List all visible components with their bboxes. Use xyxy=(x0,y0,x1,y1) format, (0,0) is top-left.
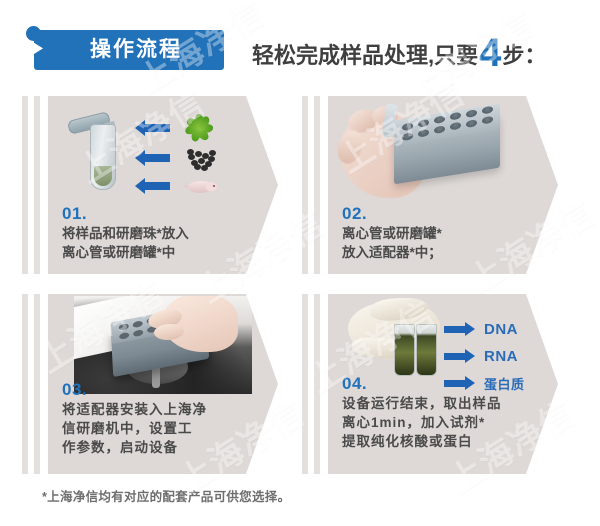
headline-suffix: 步： xyxy=(502,38,546,70)
step-3-text: 将适配器安装入上海净 信研磨机中，设置工 作参数，启动设备 xyxy=(62,400,207,457)
ribbon-label: 操作流程 xyxy=(34,30,224,70)
left-arrow-icon xyxy=(144,124,170,132)
left-arrow-icon xyxy=(144,182,170,190)
footnote: *上海净信均有对应的配套产品可供您选择。 xyxy=(42,486,290,505)
sample-vial-icon xyxy=(394,324,415,376)
step-1-text: 将样品和研磨珠*放入 离心管或研磨罐*中 xyxy=(62,224,189,262)
step-bars-2 xyxy=(302,96,324,274)
output-row-rna: RNA xyxy=(444,345,552,367)
sample-row-plant xyxy=(144,118,262,138)
step-4-outputs: DNA RNA 蛋白质 xyxy=(444,318,552,399)
right-arrow-icon xyxy=(444,353,466,360)
mouse-icon xyxy=(184,173,218,199)
headline: 轻松完成样品处理,只要 4 步： xyxy=(252,30,546,72)
step-card-4: DNA RNA 蛋白质 04. 设备运行结束，取出样品 离心1min，加入试剂*… xyxy=(328,294,558,474)
output-label-dna: DNA xyxy=(484,321,518,338)
step-2-text: 离心管或研磨罐* 放入适配器*中； xyxy=(342,224,442,262)
step-3-photo xyxy=(74,296,252,394)
output-label-protein: 蛋白质 xyxy=(484,374,525,393)
step-card-1: 01. 将样品和研磨珠*放入 离心管或研磨罐*中 xyxy=(48,96,278,274)
step-1-artwork xyxy=(48,96,278,206)
sample-row-beads xyxy=(144,148,262,168)
step-bars-3 xyxy=(22,294,44,474)
ribbon-banner: 操作流程 xyxy=(34,30,224,70)
step-card-3: 03. 将适配器安装入上海净 信研磨机中，设置工 作参数，启动设备 xyxy=(48,294,278,474)
step-2-number: 02. xyxy=(342,204,367,224)
step-4-text: 设备运行结束，取出样品 离心1min，加入试剂* 提取纯化核酸或蛋白 xyxy=(342,394,502,451)
right-arrow-icon xyxy=(444,326,466,333)
sample-vial-icon xyxy=(416,324,437,376)
output-row-protein: 蛋白质 xyxy=(444,372,552,394)
header: 操作流程 轻松完成样品处理,只要 4 步： xyxy=(0,0,600,88)
step-3-number: 03. xyxy=(62,380,87,400)
leaf-icon xyxy=(184,115,218,141)
right-arrow-icon xyxy=(444,380,466,387)
step-bars-4 xyxy=(302,294,324,474)
sample-row-mouse xyxy=(144,176,262,196)
left-arrow-icon xyxy=(144,154,170,162)
step-card-2: 02. 离心管或研磨罐* 放入适配器*中； xyxy=(328,96,558,274)
output-label-rna: RNA xyxy=(484,348,518,365)
step-1-number: 01. xyxy=(62,204,87,224)
centrifuge-tube-icon xyxy=(90,116,114,188)
infographic-page: 操作流程 轻松完成样品处理,只要 4 步： xyxy=(0,0,600,526)
step-2-photo xyxy=(336,100,532,206)
adapter-block-icon xyxy=(394,114,500,185)
output-row-dna: DNA xyxy=(444,318,552,340)
step-bars-1 xyxy=(22,96,44,274)
beads-icon xyxy=(184,145,218,171)
headline-prefix: 轻松完成样品处理,只要 xyxy=(252,38,478,70)
step-4-number: 04. xyxy=(342,374,367,394)
headline-number: 4 xyxy=(479,33,501,73)
